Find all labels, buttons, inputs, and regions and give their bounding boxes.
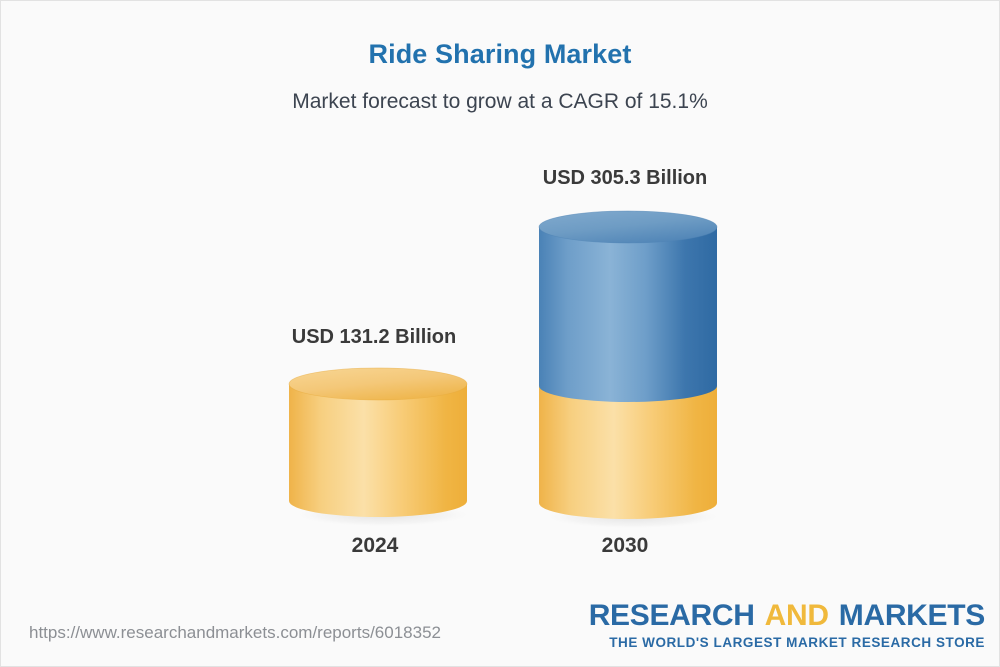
category-label-2024: 2024 bbox=[289, 534, 461, 558]
category-label-2030: 2030 bbox=[539, 534, 711, 558]
research-and-markets-logo[interactable]: RESEARCHANDMARKETS THE WORLD'S LARGEST M… bbox=[589, 601, 985, 650]
value-label-2030: USD 305.3 Billion bbox=[525, 167, 725, 190]
source-url[interactable]: https://www.researchandmarkets.com/repor… bbox=[29, 623, 441, 643]
logo-word-research: RESEARCH bbox=[589, 599, 755, 632]
logo-tagline: THE WORLD'S LARGEST MARKET RESEARCH STOR… bbox=[589, 636, 985, 650]
logo-word-and: AND bbox=[765, 599, 829, 632]
chart-canvas: Ride Sharing Market Market forecast to g… bbox=[0, 0, 1000, 667]
logo-word-markets: MARKETS bbox=[839, 599, 985, 632]
value-label-2024: USD 131.2 Billion bbox=[274, 326, 474, 349]
plot-area: USD 131.2 Billion bbox=[1, 1, 1000, 601]
cylinder-2030 bbox=[533, 205, 723, 530]
cylinder-2024 bbox=[283, 363, 473, 528]
logo-wordmark: RESEARCHANDMARKETS bbox=[589, 601, 985, 631]
